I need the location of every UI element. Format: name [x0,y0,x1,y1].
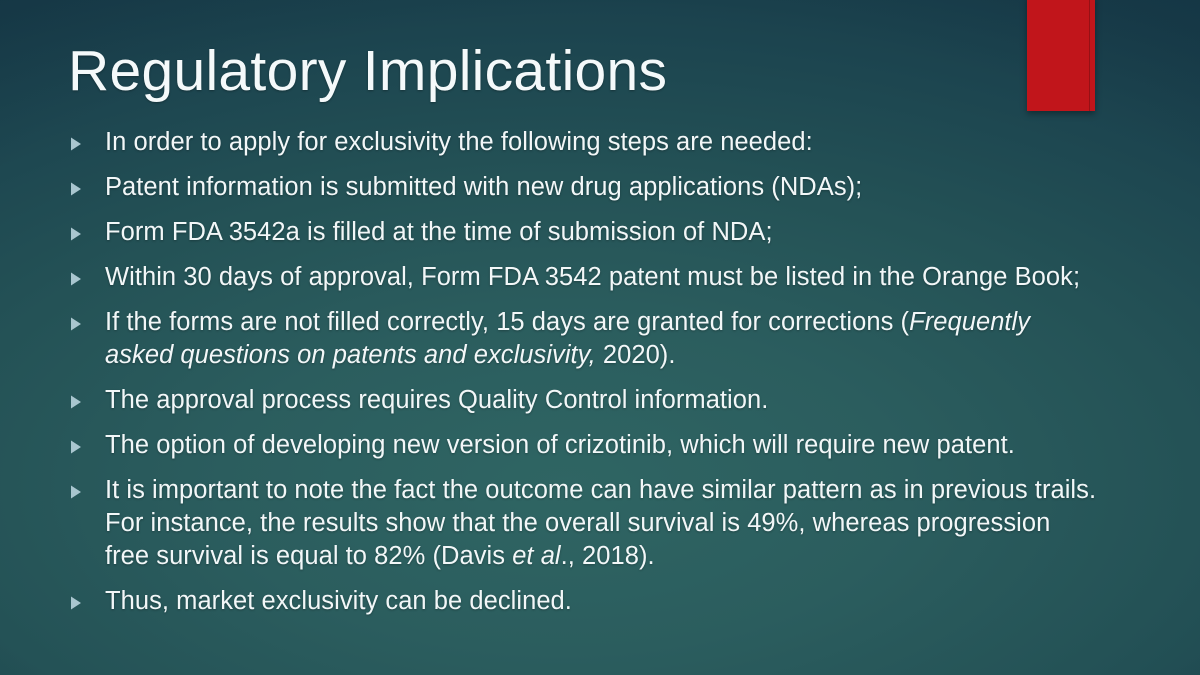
triangle-right-icon [68,216,105,242]
list-item-text: It is important to note the fact the out… [105,474,1098,573]
list-item-text: Form FDA 3542a is filled at the time of … [105,216,1098,249]
list-item-text: If the forms are not filled correctly, 1… [105,306,1098,372]
list-item[interactable]: It is important to note the fact the out… [68,474,1098,573]
presentation-slide: Regulatory Implications In order to appl… [0,0,1200,675]
list-item[interactable]: In order to apply for exclusivity the fo… [68,126,1098,159]
red-accent-block [1027,0,1095,111]
bullet-list: In order to apply for exclusivity the fo… [68,126,1098,630]
triangle-right-icon [68,261,105,287]
list-item[interactable]: Within 30 days of approval, Form FDA 354… [68,261,1098,294]
list-item-text: In order to apply for exclusivity the fo… [105,126,1098,159]
triangle-right-icon [68,474,105,500]
list-item[interactable]: The option of developing new version of … [68,429,1098,462]
list-item-text-before: If the forms are not filled correctly, 1… [105,308,909,336]
triangle-right-icon [68,126,105,152]
list-item-text: The option of developing new version of … [105,429,1098,462]
list-item[interactable]: Thus, market exclusivity can be declined… [68,585,1098,618]
list-item[interactable]: Patent information is submitted with new… [68,171,1098,204]
triangle-right-icon [68,384,105,410]
list-item-text-italic: et al [512,542,560,570]
list-item-text-after: 2020). [596,341,676,369]
slide-title: Regulatory Implications [68,40,988,103]
triangle-right-icon [68,585,105,611]
red-accent-divider-line [1089,0,1090,111]
list-item-text: The approval process requires Quality Co… [105,384,1098,417]
list-item-text: Patent information is submitted with new… [105,171,1098,204]
list-item[interactable]: Form FDA 3542a is filled at the time of … [68,216,1098,249]
list-item[interactable]: If the forms are not filled correctly, 1… [68,306,1098,372]
triangle-right-icon [68,429,105,455]
triangle-right-icon [68,171,105,197]
list-item-text: Within 30 days of approval, Form FDA 354… [105,261,1098,294]
list-item-text: Thus, market exclusivity can be declined… [105,585,1098,618]
triangle-right-icon [68,306,105,332]
list-item[interactable]: The approval process requires Quality Co… [68,384,1098,417]
list-item-text-after: ., 2018). [561,542,655,570]
